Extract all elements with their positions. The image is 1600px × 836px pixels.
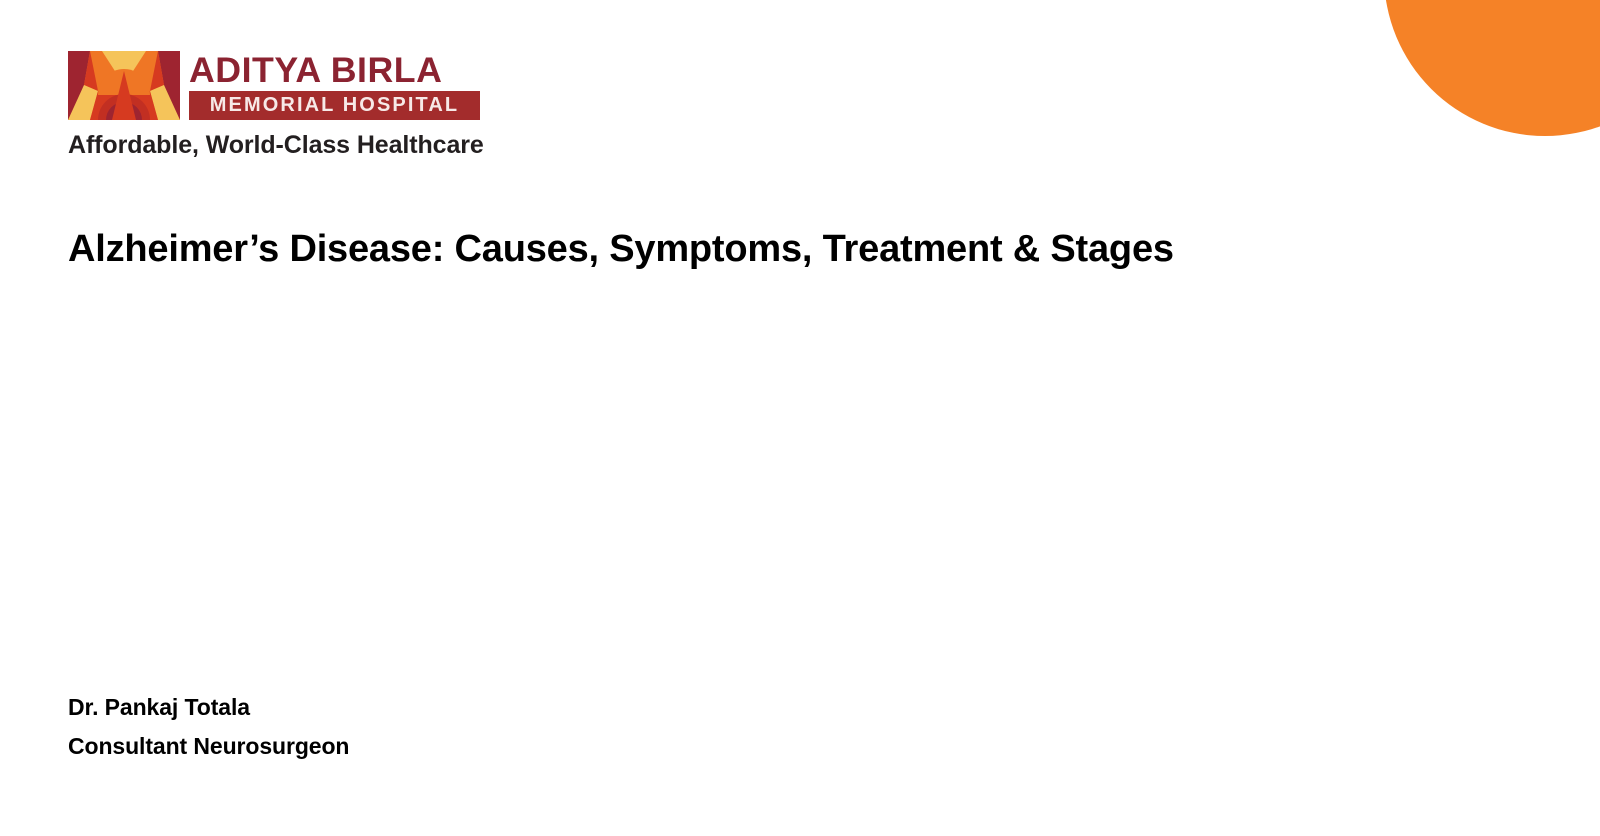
presenter-role: Consultant Neurosurgeon [68,727,768,766]
hospital-logo: ADITYA BIRLA MEMORIAL HOSPITAL Affordabl… [68,51,480,160]
aditya-birla-mosaic-mark-icon [68,51,180,120]
logo-division-banner: MEMORIAL HOSPITAL [189,91,480,120]
logo-top-row: ADITYA BIRLA MEMORIAL HOSPITAL [68,51,480,120]
logo-tagline: Affordable, World-Class Healthcare [68,131,480,160]
logo-wordmark: ADITYA BIRLA MEMORIAL HOSPITAL [180,51,480,120]
slide-title: Alzheimer’s Disease: Causes, Symptoms, T… [68,225,1468,273]
slide-body-placeholder [68,280,1468,660]
orange-corner-circle [1384,0,1600,136]
title-slide: ADITYA BIRLA MEMORIAL HOSPITAL Affordabl… [0,0,1600,836]
presenter-block: Dr. Pankaj Totala Consultant Neurosurgeo… [68,688,768,766]
logo-organization-name: ADITYA BIRLA [189,51,486,91]
presenter-name: Dr. Pankaj Totala [68,688,768,727]
